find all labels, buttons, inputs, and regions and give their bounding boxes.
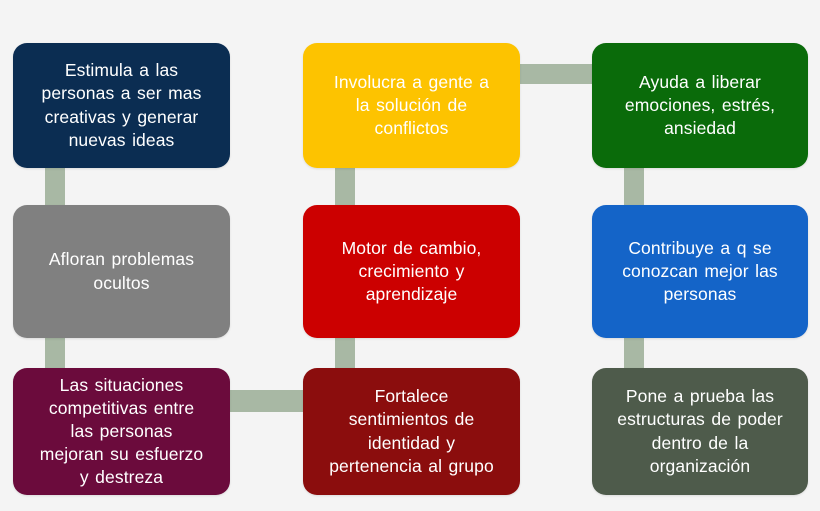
node-involucra-gente-label: Involucra a gente a la solución de confl… — [313, 71, 510, 140]
connector-vertical-col3-row1-row2 — [624, 168, 644, 206]
node-ayuda-liberar-label: Ayuda a liberar emociones, estrés, ansie… — [602, 71, 798, 140]
node-estimula-creatividad-label: Estimula a las personas a ser mas creati… — [23, 59, 220, 151]
node-ayuda-liberar[interactable]: Ayuda a liberar emociones, estrés, ansie… — [592, 43, 808, 168]
connector-vertical-col1-row1-row2 — [45, 168, 65, 206]
node-situaciones-competitivas-label: Las situaciones competitivas entre las p… — [23, 374, 220, 489]
node-fortalece-sentimientos-label: Fortalece sentimientos de identidad y pe… — [313, 385, 510, 477]
node-afloran-problemas[interactable]: Afloran problemas ocultos — [13, 205, 230, 338]
node-afloran-problemas-label: Afloran problemas ocultos — [23, 248, 220, 294]
connector-vertical-col3-row2-row3 — [624, 338, 644, 369]
node-motor-cambio[interactable]: Motor de cambio, crecimiento y aprendiza… — [303, 205, 520, 338]
node-estimula-creatividad[interactable]: Estimula a las personas a ser mas creati… — [13, 43, 230, 168]
node-pone-prueba-label: Pone a prueba las estructuras de poder d… — [602, 385, 798, 477]
connector-horizontal-row1-col2-col3 — [520, 64, 592, 84]
flow-diagram: Estimula a las personas a ser mas creati… — [0, 0, 820, 511]
node-contribuye-conozcan-label: Contribuye a q se conozcan mejor las per… — [602, 237, 798, 306]
node-contribuye-conozcan[interactable]: Contribuye a q se conozcan mejor las per… — [592, 205, 808, 338]
node-fortalece-sentimientos[interactable]: Fortalece sentimientos de identidad y pe… — [303, 368, 520, 495]
node-situaciones-competitivas[interactable]: Las situaciones competitivas entre las p… — [13, 368, 230, 495]
connector-vertical-col2-row1-row2 — [335, 168, 355, 206]
connector-vertical-col1-row2-row3 — [45, 338, 65, 369]
connector-vertical-col2-row2-row3 — [335, 338, 355, 369]
node-involucra-gente[interactable]: Involucra a gente a la solución de confl… — [303, 43, 520, 168]
node-pone-prueba[interactable]: Pone a prueba las estructuras de poder d… — [592, 368, 808, 495]
node-motor-cambio-label: Motor de cambio, crecimiento y aprendiza… — [313, 237, 510, 306]
connector-horizontal-row3-col1-col2 — [230, 390, 303, 412]
